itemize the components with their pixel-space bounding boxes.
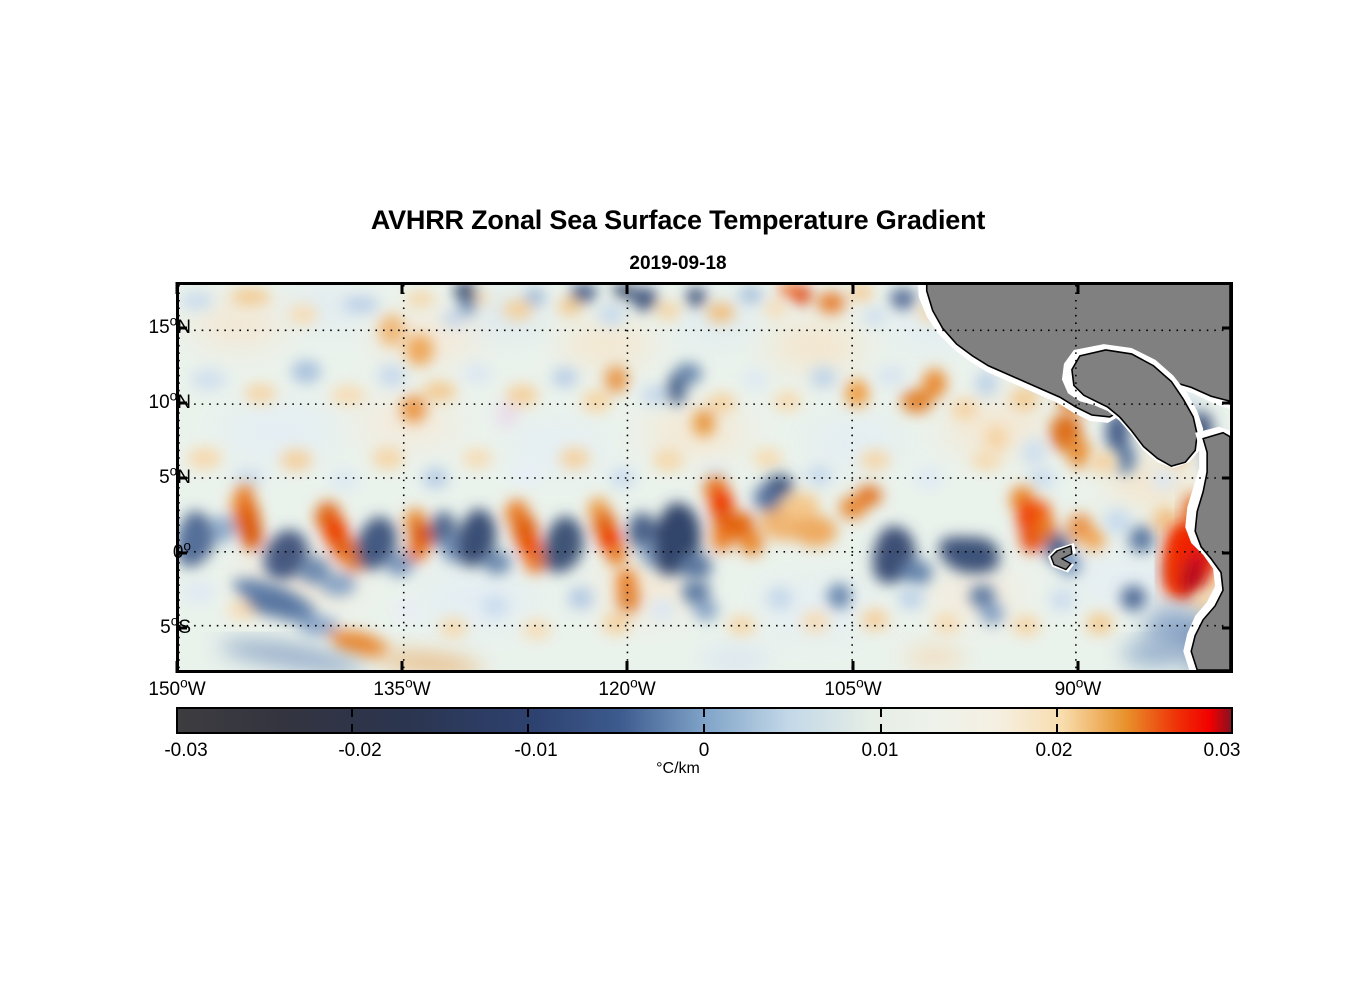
ytick-label-5s: 5oS <box>160 617 191 639</box>
xtick-mark-150w <box>176 661 179 673</box>
colorbar-tick-bot-neg001 <box>527 724 529 734</box>
xtick-label-150w: 150oW <box>148 679 205 701</box>
ytick-mark-right-5n <box>1222 477 1233 480</box>
xtick-label-105w: 105oW <box>824 679 881 701</box>
xtick-mark-top-120w <box>626 282 629 294</box>
ytick-mark-right-10n <box>1222 402 1233 405</box>
xtick-mark-135w <box>401 661 404 673</box>
colorbar-tick-pos002 <box>1056 707 1058 717</box>
colorbar-label-pos001: 0.01 <box>862 740 899 762</box>
xtick-mark-105w <box>852 661 855 673</box>
figure-canvas: AVHRR Zonal Sea Surface Temperature Grad… <box>0 0 1356 1000</box>
xtick-mark-top-135w <box>401 282 404 294</box>
ytick-mark-right-15n <box>1222 327 1233 330</box>
colorbar-label-neg001: -0.01 <box>514 740 557 762</box>
colorbar-label-pos003: 0.03 <box>1204 740 1241 762</box>
colorbar-label-neg002: -0.02 <box>338 740 381 762</box>
ytick-label-15n: 15oN <box>149 317 191 339</box>
ytick-label-0: 0o <box>173 542 191 564</box>
xtick-mark-90w <box>1077 661 1080 673</box>
chart-subtitle: 2019-09-18 <box>0 253 1356 275</box>
colorbar-tick-bot-neg002 <box>351 724 353 734</box>
xtick-mark-top-150w <box>176 282 179 294</box>
colorbar-label-pos002: 0.02 <box>1036 740 1073 762</box>
xtick-mark-top-105w <box>852 282 855 294</box>
colorbar-unit-label: °C/km <box>0 760 1356 778</box>
chart-title: AVHRR Zonal Sea Surface Temperature Grad… <box>0 205 1356 236</box>
xtick-mark-120w <box>626 661 629 673</box>
colorbar-tick-zero <box>703 707 705 717</box>
xtick-label-135w: 135oW <box>373 679 430 701</box>
ytick-label-5n: 5oN <box>159 467 191 489</box>
colorbar-label-neg003: -0.03 <box>164 740 207 762</box>
xtick-label-90w: 90oW <box>1055 679 1102 701</box>
ytick-mark-right-0 <box>1222 552 1233 555</box>
xtick-mark-top-90w <box>1077 282 1080 294</box>
ytick-label-10n: 10oN <box>149 392 191 414</box>
colorbar-tick-neg002 <box>351 707 353 717</box>
colorbar-tick-pos001 <box>880 707 882 717</box>
xtick-label-120w: 120oW <box>598 679 655 701</box>
colorbar-label-zero: 0 <box>699 740 710 762</box>
colorbar-tick-bot-pos001 <box>880 724 882 734</box>
colorbar-tick-bot-zero <box>703 724 705 734</box>
sst-gradient-field <box>179 285 1230 670</box>
colorbar-tick-neg001 <box>527 707 529 717</box>
colorbar-tick-bot-pos002 <box>1056 724 1058 734</box>
map-plot-area <box>176 282 1233 673</box>
ytick-mark-right-5s <box>1222 627 1233 630</box>
